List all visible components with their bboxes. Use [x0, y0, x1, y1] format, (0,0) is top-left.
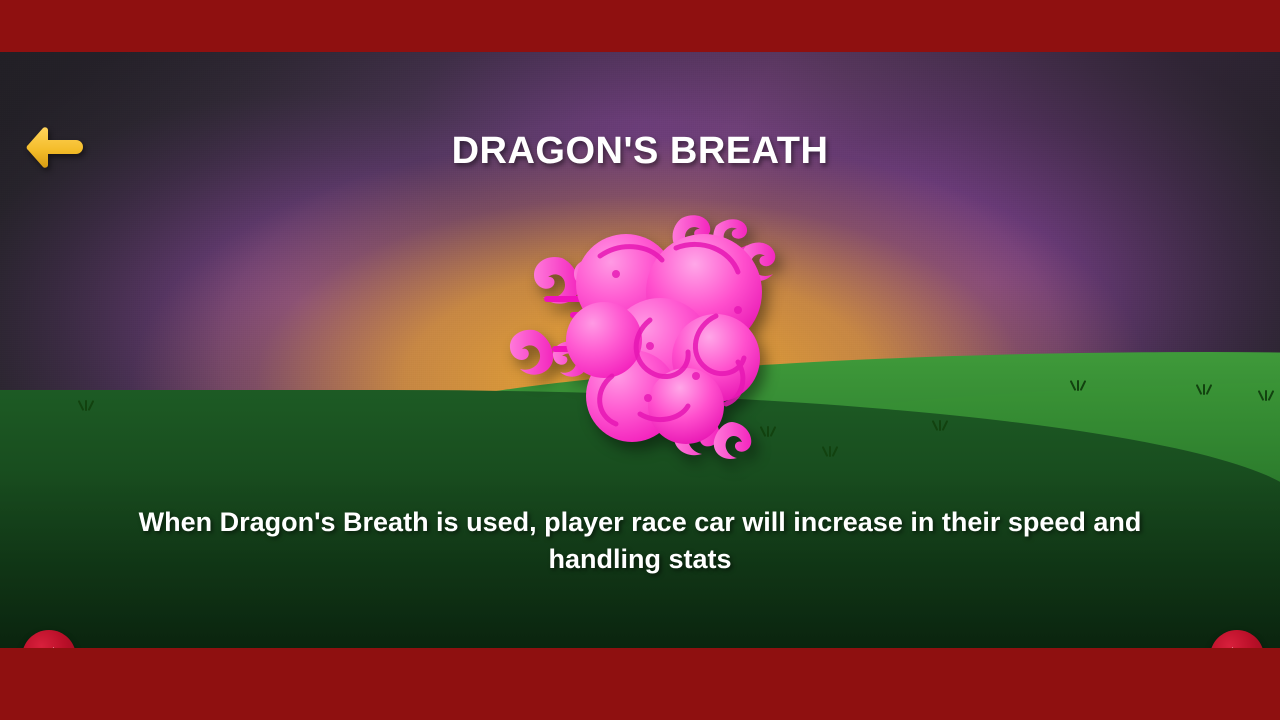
grass-tuft [932, 418, 948, 431]
back-arrow-icon[interactable] [22, 120, 84, 176]
grass-tuft [1196, 382, 1212, 395]
scene-background: DRAGON'S BREATH When Dragon's Breath is … [0, 52, 1280, 648]
grass-tuft [1070, 378, 1086, 391]
grass-tuft [78, 398, 94, 411]
dragons-breath-cloud-icon [500, 200, 800, 460]
letterbox-top [0, 0, 1280, 52]
grass-tuft [1258, 388, 1274, 401]
item-description: When Dragon's Breath is used, player rac… [90, 504, 1190, 579]
grass-tuft [822, 444, 838, 457]
game-screen: DRAGON'S BREATH When Dragon's Breath is … [0, 0, 1280, 720]
page-title: DRAGON'S BREATH [0, 130, 1280, 173]
letterbox-bottom [0, 648, 1280, 720]
